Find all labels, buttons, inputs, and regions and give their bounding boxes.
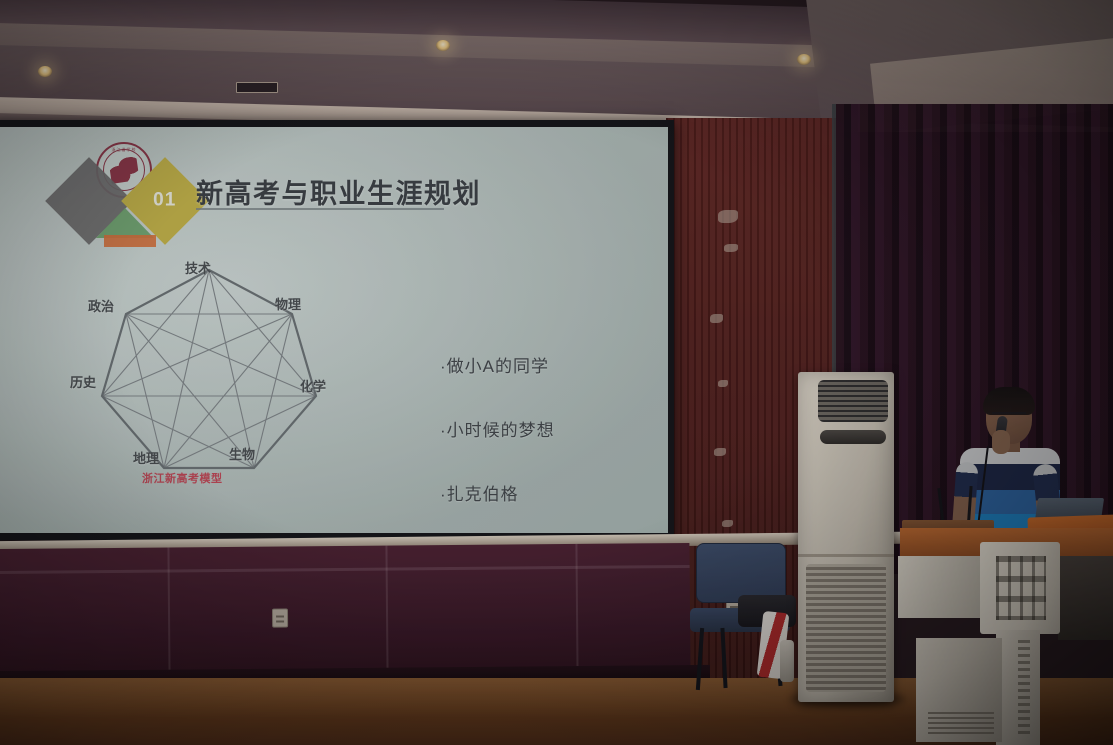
podium-front-panel[interactable] xyxy=(980,542,1060,634)
bullet-item: ·扎克伯格 xyxy=(440,480,555,505)
bullet-item: ·小时候的梦想 xyxy=(440,416,555,441)
diagram-node-label-chemistry: 化学 xyxy=(300,376,326,395)
slide-title-underline xyxy=(196,208,444,210)
subject-network-diagram xyxy=(74,256,344,488)
chair-backrest[interactable] xyxy=(696,543,786,603)
diagram-node-label-biology: 生物 xyxy=(229,444,255,463)
water-bottle[interactable] xyxy=(780,640,794,682)
diagram-node-label-history: 历史 xyxy=(70,372,96,391)
podium-speaker-grille xyxy=(996,556,1046,620)
decor-triangle-green xyxy=(96,208,154,238)
diagram-caption: 浙江新高考模型 xyxy=(142,470,223,486)
diagram-node-label-politics: 政治 xyxy=(88,296,114,315)
ac-seam xyxy=(798,554,894,557)
slide-bullet-list: ·做小A的同学 ·小时候的梦想 ·扎克伯格 xyxy=(440,352,555,544)
air-conditioner-unit[interactable] xyxy=(798,372,894,702)
slide-title: 新高考与职业生涯规划 xyxy=(196,172,481,211)
diagram-node-label-physics: 物理 xyxy=(275,294,301,313)
podium-equipment-bay xyxy=(1058,556,1113,640)
downlight-icon xyxy=(436,40,450,51)
podium-column xyxy=(996,630,1040,745)
logo-label: 浙江省学校 xyxy=(102,147,146,153)
podium-column-vent xyxy=(1018,640,1030,736)
lecture-hall-photo: 浙江省学校 01 新高考与职业生涯规划 xyxy=(0,0,1113,745)
section-number: 01 xyxy=(153,190,176,212)
diagram-node-label-technology: 技术 xyxy=(185,258,211,277)
presenter-hand xyxy=(992,430,1010,454)
bullet-item: ·做小A的同学 xyxy=(440,352,555,377)
podium-base xyxy=(916,638,1002,742)
podium-side-panel xyxy=(898,556,982,618)
stage-skirt-panels xyxy=(0,543,691,679)
diagram-node-label-geography: 地理 xyxy=(133,448,159,467)
decor-bar-orange xyxy=(104,235,156,247)
downlight-icon xyxy=(38,66,52,77)
wall-outlet[interactable] xyxy=(272,608,288,627)
ac-top-grille xyxy=(818,380,888,422)
presenter-hair xyxy=(983,387,1035,415)
heptagon-graph xyxy=(74,256,344,488)
downlight-icon xyxy=(797,54,811,65)
ac-bottom-grille xyxy=(806,564,886,692)
podium-base-vent xyxy=(928,712,994,734)
ceiling-vent xyxy=(236,82,278,93)
ac-brand-badge xyxy=(820,430,886,444)
